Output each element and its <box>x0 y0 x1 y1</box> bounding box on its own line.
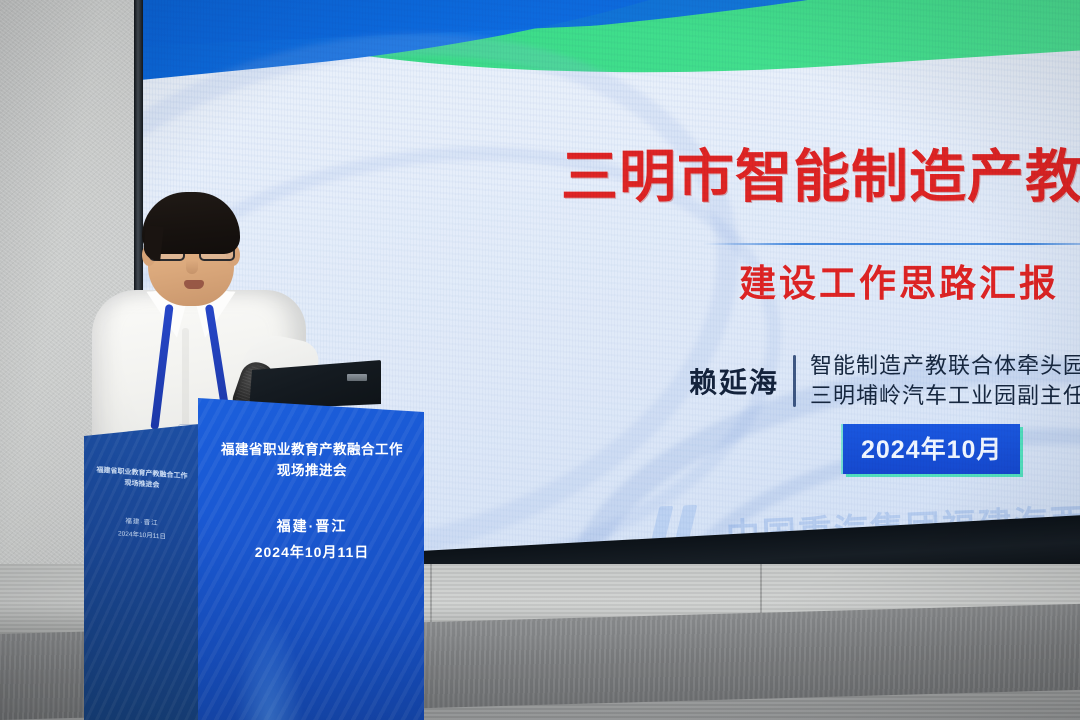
podium-front-text: 福建省职业教育产教融合工作 现场推进会 福建·晋江 2024年10月11日 <box>204 440 420 562</box>
presenter-divider <box>793 355 796 407</box>
laptop-brand-badge <box>347 374 367 381</box>
hair <box>142 192 240 254</box>
podium-front-heading-line2: 现场推进会 <box>204 461 420 482</box>
podium-front-location: 福建·晋江 <box>204 516 420 536</box>
podium-front-date: 2024年10月11日 <box>204 542 420 562</box>
wall-seam <box>430 564 432 626</box>
slide-title-divider <box>703 243 1080 245</box>
podium: 福建省职业教育产教融合工作 现场推进会 福建·晋江 2024年10月11日 福建… <box>84 398 424 720</box>
presenter-name: 赖延海 <box>689 361 779 401</box>
podium-side-text: 福建省职业教育产教融合工作 现场推进会 福建·晋江 2024年10月11日 <box>90 464 194 543</box>
slide-subtitle: 建设工作思路汇报 <box>739 253 1059 307</box>
podium-front-heading-line1: 福建省职业教育产教融合工作 <box>204 440 420 461</box>
mouth <box>184 280 204 289</box>
nose <box>186 260 198 274</box>
wall-seam <box>760 564 762 620</box>
presenter-roles: 智能制造产教联合体牵头园区 三明埔岭汽车工业园副主任 <box>810 352 1080 409</box>
slide-date-badge: 2024年10月 <box>843 424 1020 474</box>
podium-glow <box>234 610 304 720</box>
presenter-role-line1: 智能制造产教联合体牵头园区 <box>810 352 1080 380</box>
slide-title: 三明市智能制造产教联合体 <box>561 148 1080 208</box>
screenshot-stage: 三明市智能制造产教联合体 建设工作思路汇报 赖延海 智能制造产教联合体牵头园区 … <box>0 0 1080 720</box>
presenter-role-line2: 三明埔岭汽车工业园副主任 <box>810 382 1080 410</box>
slide-presenter-block: 赖延海 智能制造产教联合体牵头园区 三明埔岭汽车工业园副主任 <box>689 352 1080 409</box>
